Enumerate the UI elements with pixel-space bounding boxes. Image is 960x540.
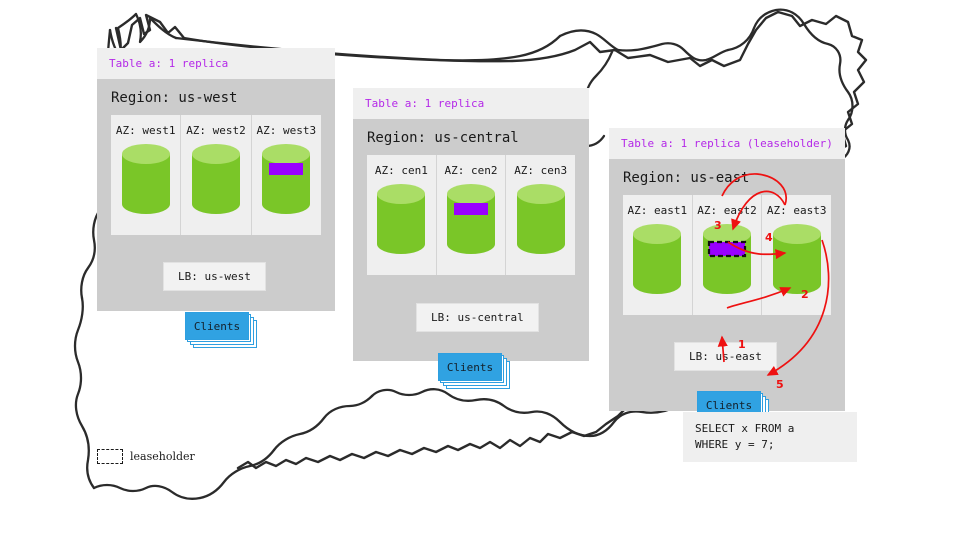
panel-header-us-west: Table a: 1 replica (97, 48, 335, 79)
db-cylinder-west2 (190, 143, 242, 219)
db-cylinder-cen3 (515, 183, 567, 259)
step-label-3: 3 (714, 219, 722, 232)
db-cylinder-cen2 (445, 183, 497, 259)
panel-header-us-east: Table a: 1 replica (leaseholder) (609, 128, 845, 159)
step-label-2: 2 (801, 288, 809, 301)
az-cell-west2[interactable]: AZ: west2 (181, 115, 251, 235)
panel-body-us-west: Region: us-west AZ: west1 AZ: west2 (97, 79, 335, 311)
db-cylinder-east1 (631, 223, 683, 299)
az-label-cen2: AZ: cen2 (445, 164, 498, 177)
db-cylinder-east2 (701, 223, 753, 299)
az-label-east1: AZ: east1 (628, 204, 688, 217)
legend: leaseholder (97, 449, 195, 464)
az-label-west3: AZ: west3 (257, 124, 317, 137)
panel-body-us-east: Region: us-east AZ: east1 AZ: east2 (609, 159, 845, 411)
az-label-cen3: AZ: cen3 (514, 164, 567, 177)
az-row-us-west: AZ: west1 AZ: west2 AZ (111, 115, 321, 235)
db-cylinder-west3 (260, 143, 312, 219)
az-label-east2: AZ: east2 (697, 204, 757, 217)
az-label-west2: AZ: west2 (186, 124, 246, 137)
step-label-1: 1 (738, 338, 746, 351)
region-panel-us-west: Table a: 1 replica Region: us-west AZ: w… (97, 48, 335, 311)
clients-label-us-west: Clients (185, 312, 249, 340)
region-panel-us-central: Table a: 1 replica Region: us-central AZ… (353, 88, 589, 361)
panel-header-us-central: Table a: 1 replica (353, 88, 589, 119)
az-label-east3: AZ: east3 (767, 204, 827, 217)
replica-block-west3 (269, 163, 303, 175)
step-label-5: 5 (776, 378, 784, 391)
az-cell-west1[interactable]: AZ: west1 (111, 115, 181, 235)
db-cylinder-east3 (771, 223, 823, 299)
db-cylinder-cen1 (375, 183, 427, 259)
az-row-us-central: AZ: cen1 AZ: cen2 (367, 155, 575, 275)
lb-box-us-west[interactable]: LB: us-west (163, 262, 266, 291)
az-cell-west3[interactable]: AZ: west3 (252, 115, 321, 235)
sql-query-box: SELECT x FROM a WHERE y = 7; (683, 412, 857, 462)
az-cell-east1[interactable]: AZ: east1 (623, 195, 693, 315)
replica-block-leaseholder-east2 (709, 242, 745, 256)
region-panel-us-east: Table a: 1 replica (leaseholder) Region:… (609, 128, 845, 411)
az-cell-cen3[interactable]: AZ: cen3 (506, 155, 575, 275)
az-cell-east3[interactable]: AZ: east3 (762, 195, 831, 315)
az-cell-cen1[interactable]: AZ: cen1 (367, 155, 437, 275)
region-title-us-central: Region: us-central (353, 119, 589, 155)
db-cylinder-west1 (120, 143, 172, 219)
lb-box-us-central[interactable]: LB: us-central (416, 303, 539, 332)
clients-us-central[interactable]: Clients (438, 353, 500, 379)
step-label-4: 4 (765, 231, 773, 244)
replica-block-cen2 (454, 203, 488, 215)
region-title-us-west: Region: us-west (97, 79, 335, 115)
az-cell-east2[interactable]: AZ: east2 (693, 195, 763, 315)
az-label-cen1: AZ: cen1 (375, 164, 428, 177)
az-row-us-east: AZ: east1 AZ: east2 (623, 195, 831, 315)
clients-us-west[interactable]: Clients (185, 312, 247, 338)
region-title-us-east: Region: us-east (609, 159, 845, 195)
leaseholder-dashed-rect-icon (97, 449, 123, 464)
panel-body-us-central: Region: us-central AZ: cen1 AZ: cen2 (353, 119, 589, 361)
lb-box-us-east[interactable]: LB: us-east (674, 342, 777, 371)
az-cell-cen2[interactable]: AZ: cen2 (437, 155, 507, 275)
legend-label: leaseholder (130, 450, 195, 463)
clients-label-us-central: Clients (438, 353, 502, 381)
az-label-west1: AZ: west1 (116, 124, 176, 137)
